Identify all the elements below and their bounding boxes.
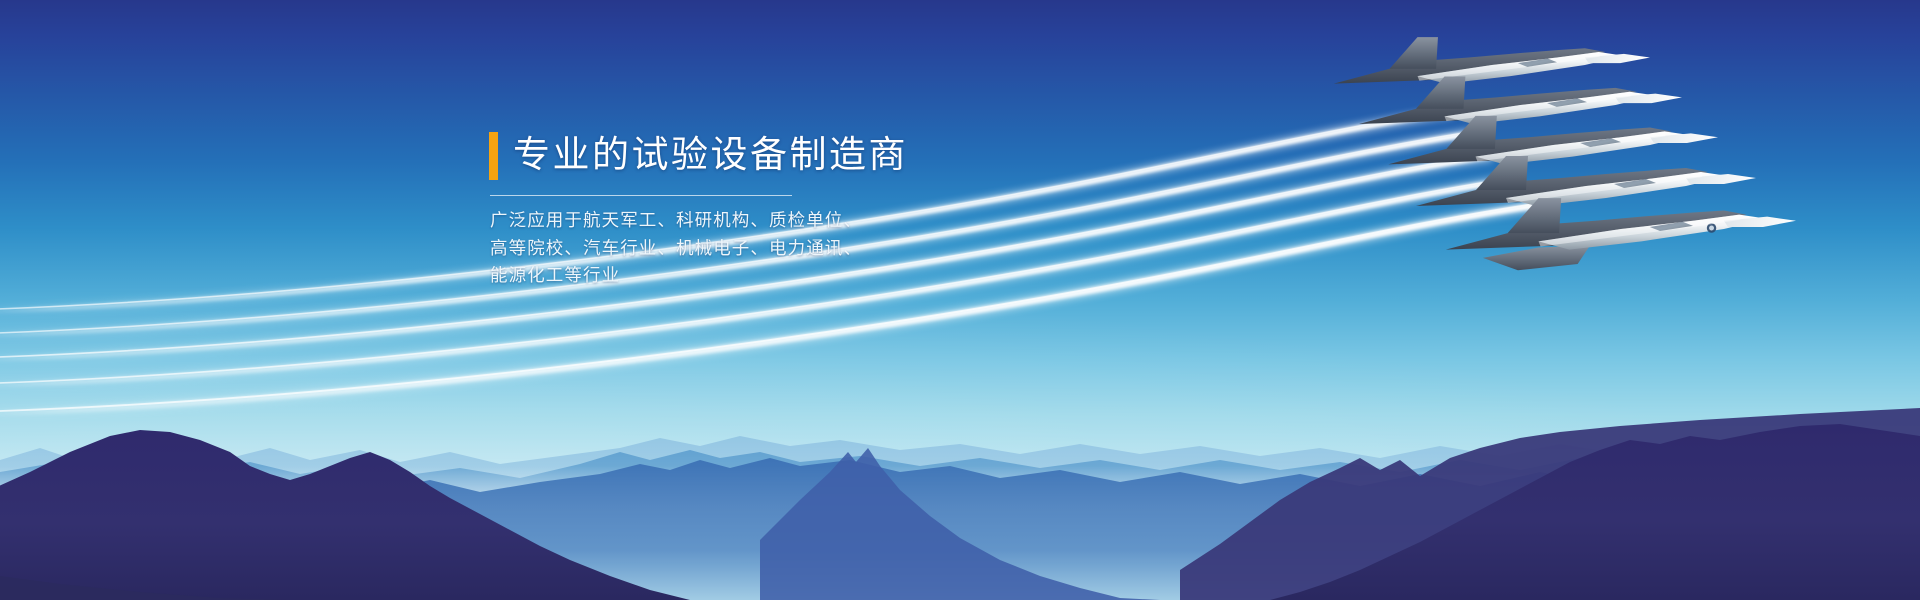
jet-2 — [1416, 156, 1756, 206]
jet-formation — [1330, 30, 1920, 310]
subtitle-block: 广泛应用于航天军工、科研机构、质检单位、 高等院校、汽车行业、机械电子、电力通讯… — [489, 207, 919, 290]
jet-3 — [1388, 116, 1718, 165]
subtitle-line-1: 广泛应用于航天军工、科研机构、质检单位、 — [490, 207, 919, 235]
subtitle-line-2: 高等院校、汽车行业、机械电子、电力通讯、 — [490, 235, 919, 263]
banner-copy: 专业的试验设备制造商 广泛应用于航天军工、科研机构、质检单位、 高等院校、汽车行… — [489, 130, 919, 290]
hero-banner: 专业的试验设备制造商 广泛应用于航天军工、科研机构、质检单位、 高等院校、汽车行… — [0, 0, 1920, 600]
subtitle-line-3: 能源化工等行业 — [490, 262, 919, 290]
divider-rule — [490, 195, 792, 196]
jet-1 — [1446, 198, 1796, 270]
page-title: 专业的试验设备制造商 — [498, 130, 908, 182]
accent-bar — [489, 132, 498, 180]
mountain-ranges — [0, 340, 1920, 600]
headline-row: 专业的试验设备制造商 — [489, 130, 919, 182]
jet-4 — [1359, 77, 1682, 125]
jet-5 — [1334, 37, 1650, 84]
